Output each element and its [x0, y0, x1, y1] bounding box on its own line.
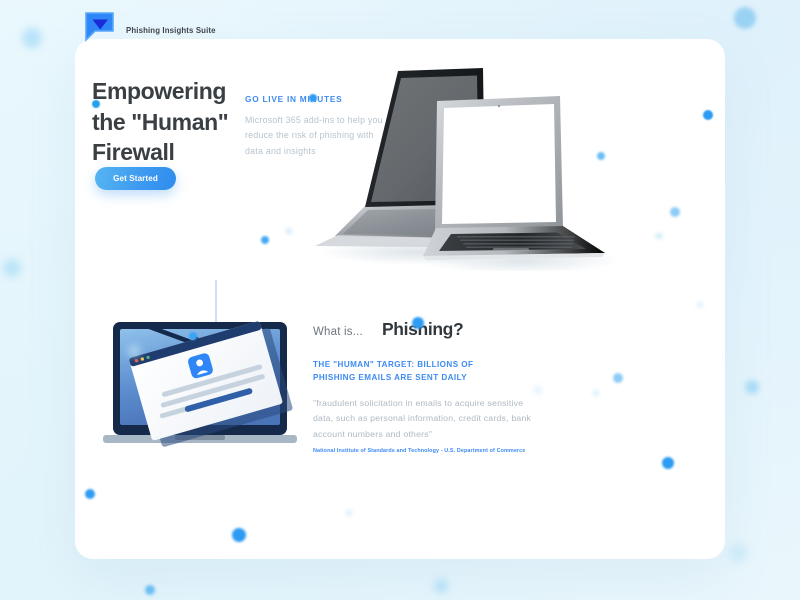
decor-dot: [145, 585, 155, 595]
page-root: Phishing Insights Suite Empowering the "…: [0, 0, 800, 600]
page-title: Empowering the "Human" Firewall: [92, 76, 260, 168]
whatis-word: Phishing?: [382, 319, 463, 340]
phishing-hook-chat-logo-icon: [84, 11, 115, 48]
brand-name: Phishing Insights Suite: [126, 25, 216, 35]
silver-laptop-front-blank-screen: [423, 96, 605, 260]
headline-line-2: the "Human": [92, 107, 260, 138]
decor-dot: [745, 380, 759, 394]
phishing-fact-line-1: THE "HUMAN" TARGET: BILLIONS OF: [313, 358, 493, 371]
phishing-email-hook-laptop-illustration: [95, 280, 310, 480]
phishing-fact: THE "HUMAN" TARGET: BILLIONS OF PHISHING…: [313, 358, 493, 385]
decor-dot: [22, 28, 42, 48]
decor-dot: [729, 544, 747, 562]
headline-line-3: Firewall: [92, 137, 260, 168]
whatis-heading-row: What is... Phishing?: [313, 319, 463, 340]
brand-logo-group[interactable]: Phishing Insights Suite: [84, 11, 223, 48]
quote-citation: National Institute of Standards and Tech…: [313, 448, 525, 454]
phishing-fact-line-2: PHISHING EMAILS ARE SENT DAILY: [313, 371, 493, 384]
decor-dot: [734, 7, 756, 29]
headline-line-1: Empowering: [92, 76, 260, 107]
laptops-photo: [305, 56, 615, 271]
whatis-label: What is...: [313, 326, 363, 338]
get-started-button[interactable]: Get Started: [95, 167, 176, 190]
decor-dot: [434, 579, 448, 593]
decor-dot: [3, 259, 21, 277]
phishing-definition-quote: "fraudulent solicitation in emails to ac…: [313, 396, 545, 442]
